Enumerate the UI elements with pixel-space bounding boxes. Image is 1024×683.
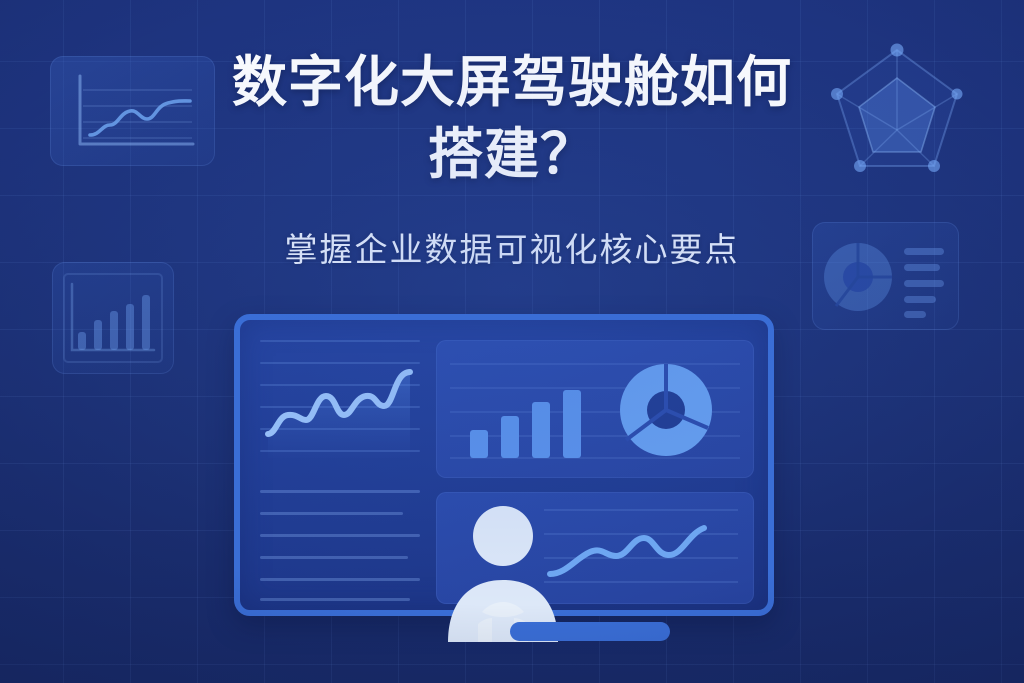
- area-chart-panel: [260, 336, 420, 596]
- kpi-panel-graphics: [436, 340, 754, 478]
- poster-canvas: 数字化大屏驾驶舱如何 搭建？ 掌握企业数据可视化核心要点: [0, 0, 1024, 683]
- dashboard-monitor: [234, 314, 774, 616]
- bar-chart-card: [52, 262, 174, 374]
- bar-chart-icon: [52, 262, 174, 374]
- bar-chart-icon: [470, 390, 581, 458]
- monitor-base: [510, 622, 670, 641]
- area-chart-icon: [260, 336, 420, 466]
- page-title: 数字化大屏驾驶舱如何 搭建？: [0, 46, 1024, 190]
- donut-chart-icon: [620, 364, 712, 456]
- driver-with-steering-wheel-icon: [438, 500, 568, 642]
- title-line-2: 搭建？: [0, 118, 1024, 190]
- page-subtitle: 掌握企业数据可视化核心要点: [0, 228, 1024, 272]
- title-line-1: 数字化大屏驾驶舱如何: [232, 51, 792, 113]
- kpi-panel: [436, 340, 754, 478]
